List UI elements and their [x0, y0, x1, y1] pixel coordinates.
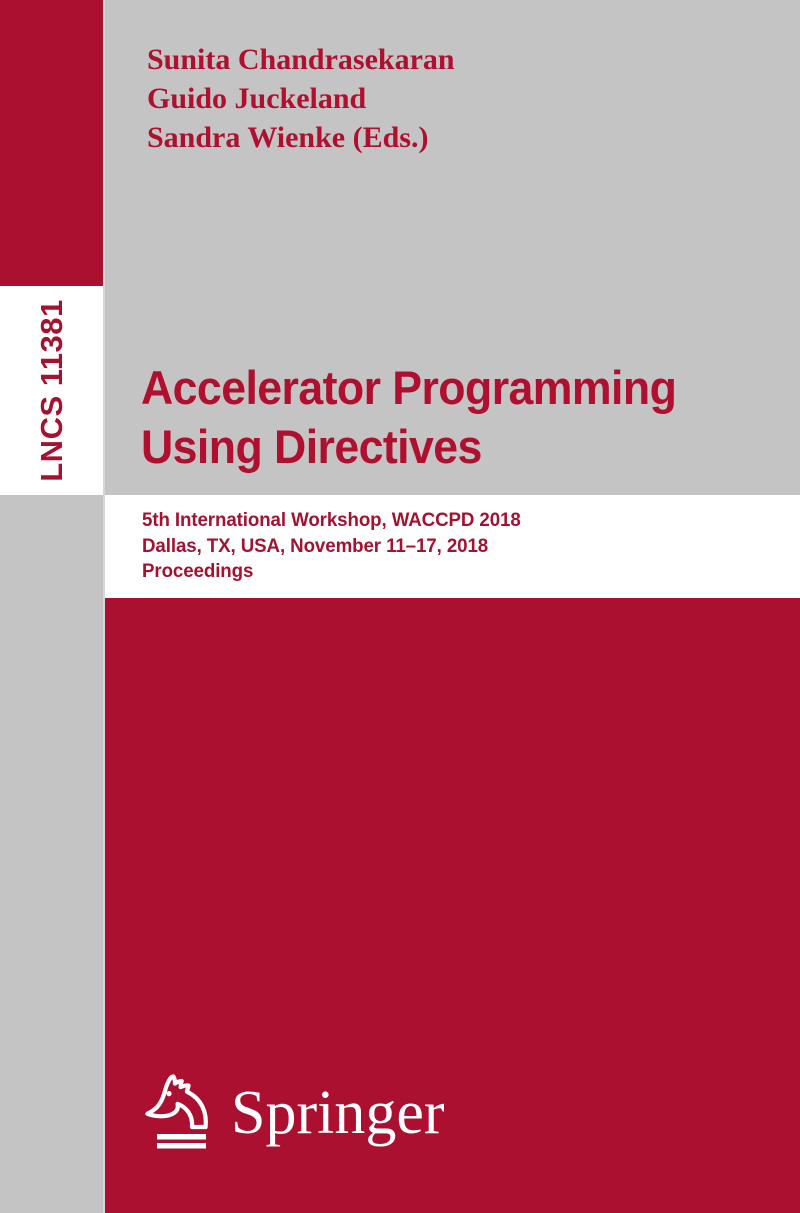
title-line-1: Accelerator Programming — [141, 358, 749, 417]
springer-knight-icon — [143, 1070, 217, 1156]
book-title: Accelerator Programming Using Directives — [141, 358, 781, 476]
series-number-text: LNCS 11381 — [36, 299, 67, 482]
publisher-logo: Springer — [143, 1070, 445, 1156]
subtitle-line-2: Dallas, TX, USA, November 11–17, 2018 — [142, 534, 756, 560]
title-line-2: Using Directives — [141, 417, 749, 476]
publisher-name: Springer — [231, 1082, 445, 1144]
editors-block: Sunita Chandrasekaran Guido Juckeland Sa… — [147, 40, 747, 157]
subtitle-line-3: Proceedings — [142, 559, 756, 585]
series-number-label: LNCS 11381 — [0, 286, 103, 495]
editor-line-2: Guido Juckeland — [147, 79, 747, 118]
spine-strip: LNCS 11381 — [0, 0, 103, 1213]
subtitle-line-1: 5th International Workshop, WACCPD 2018 — [142, 508, 756, 534]
book-cover: LNCS 11381 Sunita Chandrasekaran Guido J… — [0, 0, 800, 1213]
editor-line-1: Sunita Chandrasekaran — [147, 40, 747, 79]
spine-gray-band — [0, 495, 103, 1213]
editor-line-3: Sandra Wienke (Eds.) — [147, 118, 747, 157]
spine-red-band — [0, 0, 103, 286]
book-subtitle: 5th International Workshop, WACCPD 2018 … — [142, 508, 782, 585]
